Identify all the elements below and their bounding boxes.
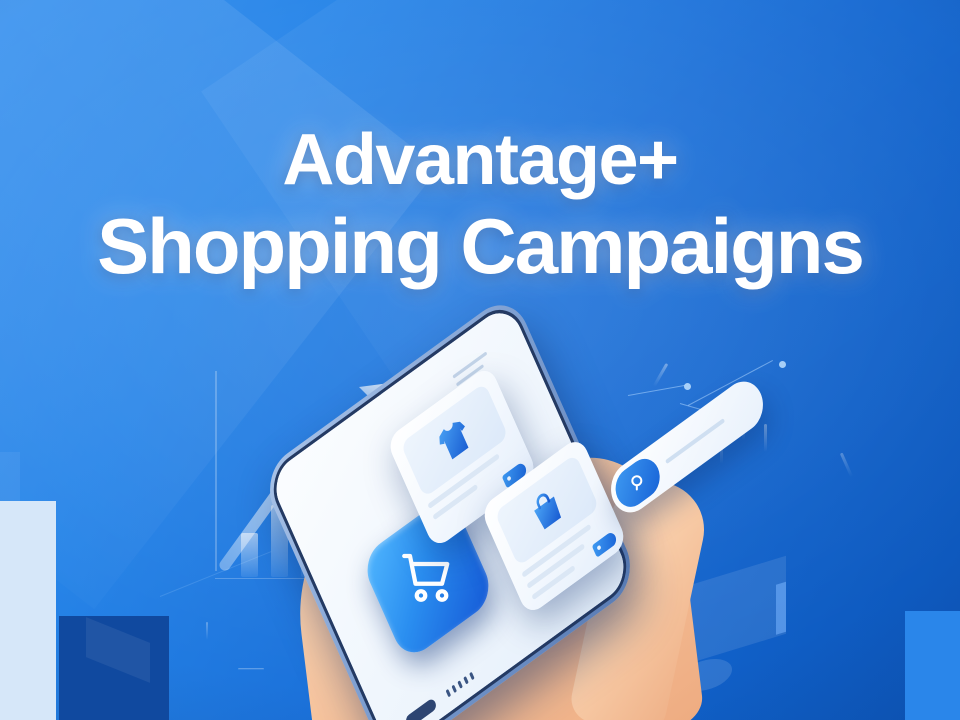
poster-canvas: Advantage+ Shopping Campaigns — [0, 0, 960, 720]
shopping-bag-icon — [524, 481, 571, 539]
tshirt-icon — [431, 411, 478, 469]
search-input[interactable] — [665, 418, 725, 464]
hero-illustration — [0, 0, 960, 720]
price-tag-icon — [592, 530, 618, 557]
search-icon — [628, 473, 648, 493]
shopping-cart-icon — [398, 548, 458, 608]
